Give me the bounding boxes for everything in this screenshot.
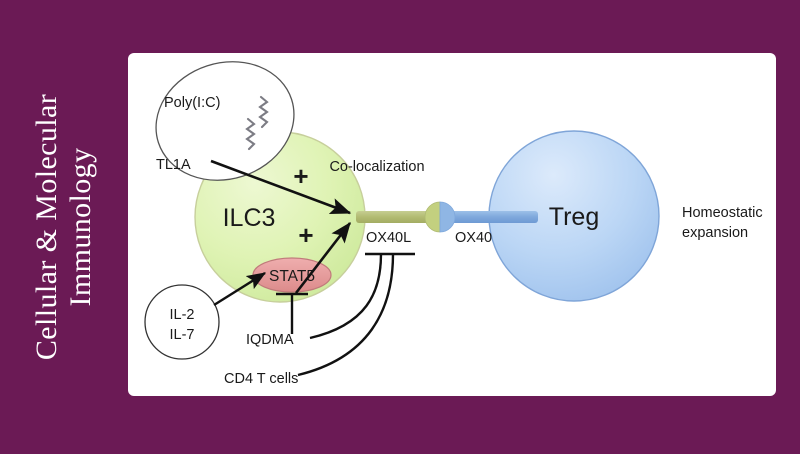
- pathway-diagram: ILC3 Treg Poly(I:C) TL1A I: [128, 53, 776, 396]
- ox40l-bar: [356, 211, 434, 223]
- journal-title-line-1: Cellular & Molecular: [30, 94, 64, 360]
- outcome-line-1: Homeostatic: [682, 205, 763, 221]
- cytokine-bubble: IL-2 IL-7: [145, 285, 219, 359]
- plus-sign-1: +: [293, 161, 308, 191]
- journal-title-line-2: Immunology: [64, 94, 98, 360]
- outcome-label: Homeostatic expansion: [682, 205, 763, 241]
- cd4-t-cells-label: CD4 T cells: [224, 371, 298, 387]
- il2-label: IL-2: [170, 307, 195, 323]
- ox40l-label: OX40L: [366, 230, 411, 246]
- tl1a-label: TL1A: [156, 157, 191, 173]
- iqdma-label: IQDMA: [246, 332, 294, 348]
- poly-ic-label: Poly(I:C): [164, 95, 220, 111]
- junction-receptor-half: [440, 202, 455, 232]
- junction-ligand-half: [425, 202, 440, 232]
- figure-panel: ILC3 Treg Poly(I:C) TL1A I: [128, 53, 776, 396]
- il7-label: IL-7: [170, 327, 195, 343]
- ox40-bar: [446, 211, 538, 223]
- journal-title-block: Cellular & Molecular Immunology: [0, 0, 128, 454]
- plus-sign-2: +: [298, 220, 313, 250]
- figure-screenshot: Cellular & Molecular Immunology: [0, 0, 800, 454]
- ilc3-label: ILC3: [223, 204, 276, 232]
- colocalization-label: Co-localization: [329, 159, 424, 175]
- journal-title: Cellular & Molecular Immunology: [30, 94, 98, 360]
- ox40-label: OX40: [455, 230, 492, 246]
- outcome-line-2: expansion: [682, 225, 748, 241]
- treg-label: Treg: [549, 203, 599, 231]
